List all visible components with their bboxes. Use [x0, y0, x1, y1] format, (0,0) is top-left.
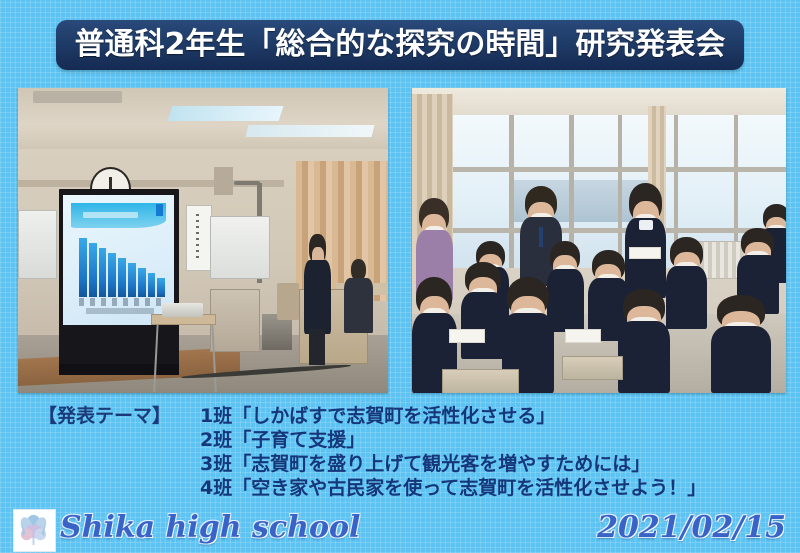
page-title: 普通科2年生「総合的な探究の時間」研究発表会 [75, 30, 726, 60]
seated-student [666, 237, 707, 329]
window-sash [449, 167, 786, 171]
presentation-photo-scene [18, 88, 388, 393]
theme-item-1: 1班「しかばすで志賀町を活性化させる」 [200, 404, 555, 428]
seated-student [344, 259, 374, 338]
standing-student [625, 183, 666, 299]
presenting-student [303, 234, 333, 362]
theme-row: 【発表テーマ】 1班「しかばすで志賀町を活性化させる」 [38, 404, 778, 428]
audience-photo-scene [412, 88, 786, 393]
slide-badge [156, 204, 163, 216]
seated-student [711, 295, 771, 393]
presentation-photo [18, 88, 388, 393]
poster-slide: 普通科2年生「総合的な探究の時間」研究発表会 [0, 0, 800, 553]
audience-photo [412, 88, 786, 393]
ceiling-light [167, 106, 283, 121]
chair [277, 283, 299, 320]
slide-chart-caption [86, 308, 155, 313]
worksheet-paper [449, 329, 485, 343]
ceiling-light [246, 125, 375, 137]
worksheet-paper [565, 329, 601, 343]
seated-student [461, 262, 506, 360]
theme-row: 3班「志賀町を盛り上げて観光客を増やすためには」 [38, 452, 778, 476]
whiteboard [210, 216, 269, 279]
worksheet-paper [629, 247, 661, 260]
student-desk [562, 356, 624, 379]
wall-duct [214, 167, 233, 194]
title-banner: 普通科2年生「総合的な探究の時間」研究発表会 [56, 20, 744, 70]
theme-item-2: 2班「子育て支援」 [200, 428, 365, 452]
themes-label: 【発表テーマ】 [38, 404, 200, 428]
slide-chart-bar [79, 238, 87, 297]
school-crest-logo [13, 509, 56, 552]
slide-title-text [83, 212, 138, 217]
projector-table-legs [153, 325, 216, 392]
slide-chart-bar [89, 243, 97, 297]
school-name: Shika high school [60, 510, 360, 546]
slide-chart-bar [99, 248, 107, 297]
theme-item-3: 3班「志賀町を盛り上げて観光客を増やすためには」 [200, 452, 650, 476]
slide-chart-bar [108, 253, 116, 297]
slide-chart-bar [148, 273, 156, 297]
seated-student [618, 289, 670, 393]
slide-chart-bar [157, 278, 165, 297]
projected-slide [63, 195, 174, 325]
theme-row: 2班「子育て支援」 [38, 428, 778, 452]
poster-footer: Shika high school 2021/02/15 [0, 503, 800, 553]
theme-item-4: 4班「空き家や古民家を使って志賀町を活性化させよう！」 [200, 476, 706, 500]
slide-chart-bar [128, 263, 136, 297]
slide-header-band [71, 203, 166, 228]
theme-row: 4班「空き家や古民家を使って志賀町を活性化させよう！」 [38, 476, 778, 500]
window-mullion [618, 115, 622, 268]
window-mullion [509, 115, 513, 268]
ceiling-strip [33, 91, 122, 103]
footer-date: 2021/02/15 [597, 510, 786, 546]
slide-chart-bar [118, 258, 126, 297]
slide-chart-bar [138, 268, 146, 297]
slide-chart-axis-labels [79, 298, 165, 306]
presentation-themes-block: 【発表テーマ】 1班「しかばすで志賀町を活性化させる」 2班「子育て支援」 3班… [38, 404, 778, 500]
slide-bar-chart [79, 238, 165, 297]
classroom-ceiling [412, 88, 786, 115]
whiteboard [18, 210, 57, 279]
whiteboard [186, 205, 212, 271]
window-sash [449, 228, 786, 232]
cabinet [210, 289, 260, 352]
student-desk [442, 369, 519, 393]
projector [162, 303, 203, 317]
